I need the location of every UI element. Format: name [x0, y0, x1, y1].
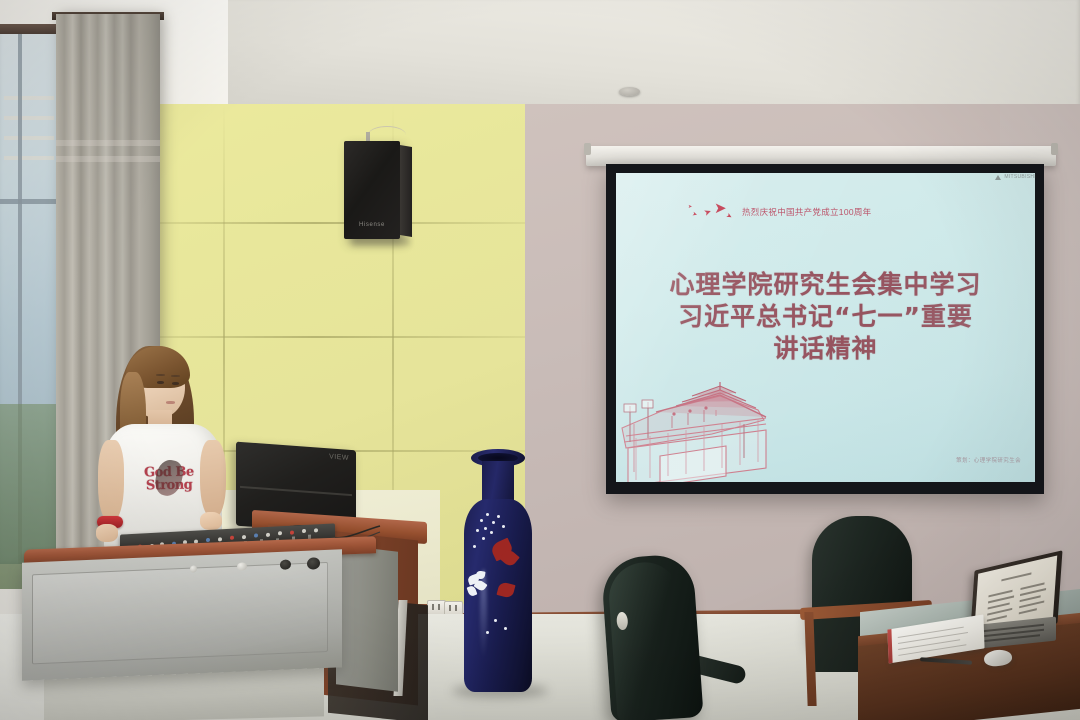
conference-room-photo: Hisense ➤ ➤ ➤ ➤ ➤ 热烈庆祝中国共产党成立100周年 心理学院研… [0, 0, 1080, 720]
slide-title: 心理学院研究生会集中学习 习近平总书记“七一”重要 讲话精神 [616, 269, 1035, 364]
lectern-front-panel [32, 562, 328, 664]
projection-screen[interactable]: ➤ ➤ ➤ ➤ ➤ 热烈庆祝中国共产党成立100周年 心理学院研究生会集中学习 … [606, 164, 1044, 494]
speaker-side-face [400, 145, 412, 237]
notebook-spine [887, 629, 892, 663]
tiananmen-gate-illustration [616, 376, 846, 482]
wall-speaker: Hisense [344, 141, 400, 239]
lectern-side-panel [336, 544, 398, 692]
ceiling-smoke-detector-icon [619, 87, 640, 96]
chair-rim [607, 560, 688, 720]
slide-title-line-3: 讲话精神 [616, 333, 1035, 365]
ceiling-recess [215, 0, 1080, 112]
doves-icon: ➤ ➤ ➤ ➤ ➤ [688, 201, 734, 223]
arm-left [98, 440, 124, 522]
hand-left [96, 524, 118, 542]
projection-screen-housing [586, 146, 1056, 166]
floor-vase [456, 447, 540, 692]
monitor-brand-label: VIEW [329, 453, 349, 461]
hand-right [200, 512, 222, 530]
slide-credit-text: 策划：心理学院研究生会 [956, 456, 1021, 464]
office-chair-left[interactable] [600, 553, 703, 720]
vase-red-motif [496, 581, 515, 599]
slide-title-line-1: 心理学院研究生会集中学习 [616, 269, 1035, 301]
projected-slide: ➤ ➤ ➤ ➤ ➤ 热烈庆祝中国共产党成立100周年 心理学院研究生会集中学习 … [616, 173, 1035, 482]
vase-body [464, 499, 532, 692]
speaker-brand-label: Hisense [344, 222, 400, 228]
projector-brand-label: MITSUBISHI [1004, 174, 1036, 180]
presenter: God Be Strong [96, 344, 236, 559]
lectern [22, 549, 342, 680]
slide-header-text: 热烈庆祝中国共产党成立100周年 [742, 206, 871, 218]
slide-title-line-2: 习近平总书记“七一”重要 [616, 301, 1035, 333]
monitor-seam [240, 486, 352, 496]
mitsubishi-logo-icon: MITSUBISHI [995, 174, 1036, 180]
arm-right [200, 440, 226, 518]
slide-header: ➤ ➤ ➤ ➤ ➤ 热烈庆祝中国共产党成立100周年 [688, 201, 871, 223]
